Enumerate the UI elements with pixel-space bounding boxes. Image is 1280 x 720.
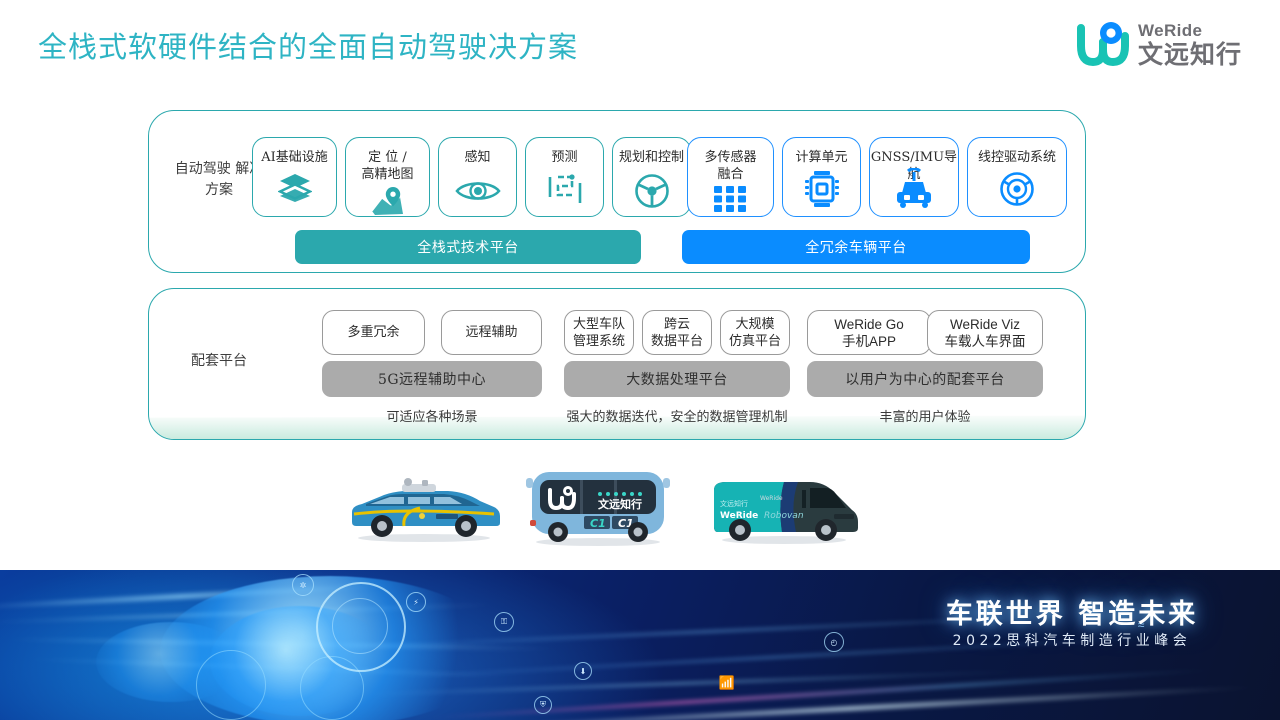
support-card-label: WeRide Viz 车载人车界面 <box>945 316 1026 350</box>
capability-card-label: 预测 <box>551 149 577 166</box>
logo-text-cn: 文远知行 <box>1138 42 1242 67</box>
logo-text-en: WeRide <box>1138 22 1242 39</box>
support-card-remote-assistance[interactable]: 远程辅助 <box>441 310 542 355</box>
eye-icon <box>455 178 501 204</box>
support-card-cross-cloud-data[interactable]: 跨云 数据平台 <box>642 310 712 355</box>
support-bar-label: 以用户为中心的配套平台 <box>845 369 1005 389</box>
support-card-fleet-management[interactable]: 大型车队 管理系统 <box>564 310 634 355</box>
capability-card-label: AI基础设施 <box>261 149 328 166</box>
steering-wheel-icon <box>634 173 670 209</box>
panel-support-platform: 配套平台 多重冗余 远程辅助 大型车队 管理系统 跨云 数据平台 大规模 仿真平… <box>148 288 1086 440</box>
support-bar-user-centric-platform[interactable]: 以用户为中心的配套平台 <box>807 361 1043 397</box>
support-card-label: 多重冗余 <box>347 324 399 341</box>
svg-text:文远知行: 文远知行 <box>720 499 748 508</box>
vehicle-robovan-van: 文远知行 WeRide WeRide Robovan <box>706 470 862 551</box>
capability-card-label: 多传感器 融合 <box>704 149 756 183</box>
svg-text:文远知行: 文远知行 <box>598 497 642 511</box>
support-card-large-scale-simulation[interactable]: 大规模 仿真平台 <box>720 310 790 355</box>
chart-icon: 📶 <box>718 674 736 692</box>
svg-text:WeRide: WeRide <box>760 495 783 502</box>
support-card-label: 大型车队 管理系统 <box>573 316 625 350</box>
capability-card-localization-hdmap[interactable]: 定 位 / 高精地图 <box>345 137 430 217</box>
support-card-label: 大规模 仿真平台 <box>729 316 781 350</box>
capability-card-label: 计算单元 <box>795 149 847 166</box>
capability-card-label: 规划和控制 <box>619 149 684 166</box>
chip-icon <box>805 171 839 207</box>
capability-card-prediction[interactable]: 预测 <box>525 137 604 217</box>
support-card-multi-redundancy[interactable]: 多重冗余 <box>322 310 425 355</box>
support-bar-label: 5G远程辅助中心 <box>378 369 486 389</box>
slide-root: 全栈式软硬件结合的全面自动驾驶决方案 WeRide 文远知行 自动驾驶 解决方案… <box>0 0 1280 720</box>
banner-subtitle: 2022思科汽车制造行业峰会 <box>922 630 1222 650</box>
platform-bar-full-stack[interactable]: 全栈式技术平台 <box>295 230 641 264</box>
support-card-weride-viz[interactable]: WeRide Viz 车载人车界面 <box>927 310 1043 355</box>
banner-hud-ring <box>332 598 388 654</box>
gear-icon: ✲ <box>292 574 314 596</box>
platform-bar-label: 全栈式技术平台 <box>417 237 519 257</box>
panel-autonomous-driving: 自动驾驶 解决方案 AI基础设施 定 位 / 高精地图 <box>148 110 1086 273</box>
download-icon: ⬇ <box>574 662 592 680</box>
banner-title: 车联世界 智造未来 <box>922 592 1222 631</box>
key-icon: ⚿ <box>494 612 514 632</box>
svg-text:C1: C1 <box>590 517 606 530</box>
capability-card-gnss-imu[interactable]: GNSS/IMU导航 <box>869 137 959 217</box>
support-bar-big-data-platform[interactable]: 大数据处理平台 <box>564 361 790 397</box>
map-pin-icon <box>369 185 407 217</box>
support-caption-scenarios: 可适应各种场景 <box>322 406 542 425</box>
weride-logo-mark <box>1077 20 1129 68</box>
capability-card-ai-infrastructure[interactable]: AI基础设施 <box>252 137 337 217</box>
capability-card-perception[interactable]: 感知 <box>438 137 517 217</box>
layers-icon <box>278 172 312 202</box>
support-caption-experience: 丰富的用户体验 <box>807 406 1043 425</box>
trajectory-icon <box>546 173 584 207</box>
support-caption-data: 强大的数据迭代，安全的数据管理机制 <box>544 406 810 425</box>
capability-card-sensor-fusion[interactable]: 多传感器 融合 <box>687 137 774 217</box>
capability-card-drive-by-wire[interactable]: 线控驱动系统 <box>967 137 1067 217</box>
vehicle-robotaxi-sedan <box>344 474 504 549</box>
clock-icon: ◴ <box>824 632 844 652</box>
weride-logo-text: WeRide 文远知行 <box>1138 22 1242 67</box>
support-card-weride-go[interactable]: WeRide Go 手机APP <box>807 310 931 355</box>
panel-support-platform-label: 配套平台 <box>169 351 269 372</box>
vehicle-lineup: 文远知行 C1 C1 <box>0 452 1280 562</box>
capability-card-label: 线控驱动系统 <box>978 149 1056 166</box>
shield-icon: ⛨ <box>534 696 552 714</box>
capability-card-compute-unit[interactable]: 计算单元 <box>782 137 861 217</box>
grid-dots-icon <box>714 186 748 212</box>
capability-card-label: 感知 <box>464 149 490 166</box>
page-title: 全栈式软硬件结合的全面自动驾驶决方案 <box>38 24 578 66</box>
weride-logo: WeRide 文远知行 <box>1077 20 1242 68</box>
support-bar-label: 大数据处理平台 <box>626 369 728 389</box>
support-card-label: 远程辅助 <box>465 324 517 341</box>
bottom-banner: ✲ ⚡ ⚿ ⬇ ⛨ 📶 ◴ ≈ 车联世界 智造未来 2022思科汽车制造行业峰会 <box>0 570 1280 720</box>
svg-text:Robovan: Robovan <box>764 511 804 521</box>
capability-card-planning-control[interactable]: 规划和控制 <box>612 137 691 217</box>
steering-target-icon <box>999 171 1035 207</box>
support-card-label: 跨云 数据平台 <box>651 316 703 350</box>
support-bar-5g-remote-center[interactable]: 5G远程辅助中心 <box>322 361 542 397</box>
banner-wheel-ring <box>196 650 266 720</box>
platform-bar-label: 全冗余车辆平台 <box>805 237 907 257</box>
platform-bar-redundant-vehicle[interactable]: 全冗余车辆平台 <box>682 230 1030 264</box>
vehicle-robobus-minibus: 文远知行 C1 C1 <box>522 464 674 553</box>
car-antenna-icon <box>890 168 938 208</box>
support-card-label: WeRide Go 手机APP <box>834 316 904 350</box>
bolt-icon: ⚡ <box>406 592 426 612</box>
capability-card-label: 定 位 / 高精地图 <box>361 149 413 183</box>
